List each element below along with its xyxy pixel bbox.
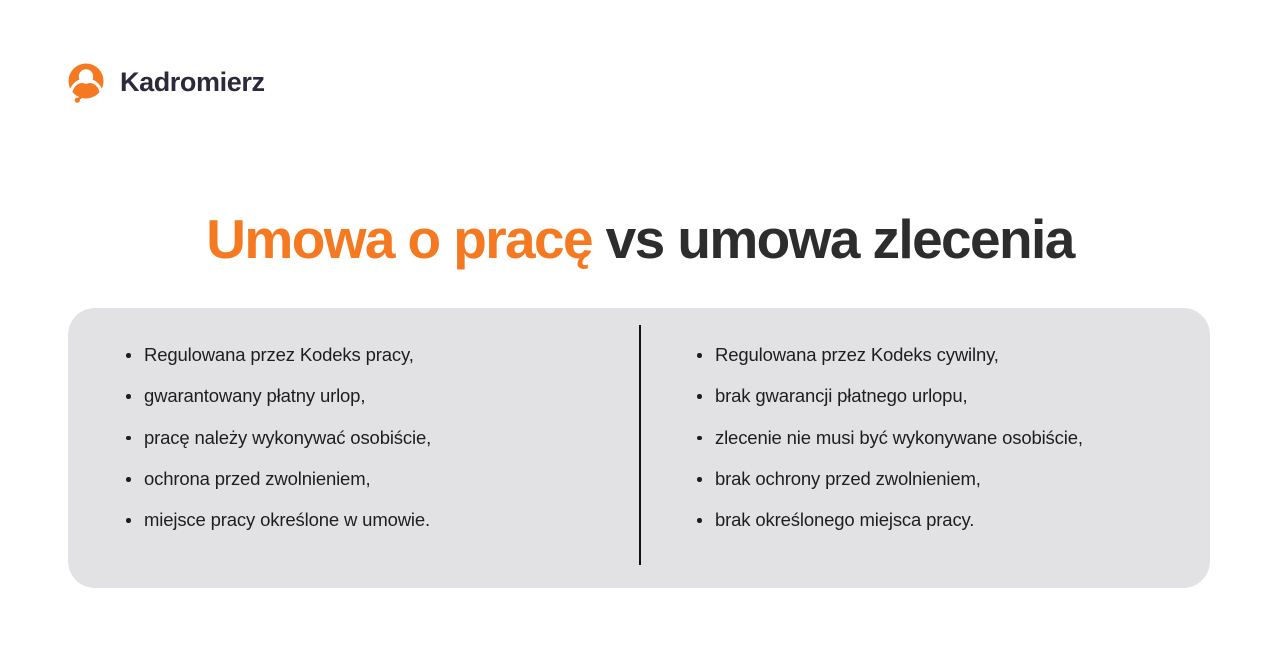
page-title-plain: vs umowa zlecenia [592,208,1074,270]
bullet-dot-icon [697,477,702,482]
list-item-label: Regulowana przez Kodeks pracy, [144,344,414,365]
bullet-list-mandate-contract: Regulowana przez Kodeks cywilny, brak gw… [697,345,1186,531]
bullet-dot-icon [697,394,702,399]
bullet-dot-icon [697,518,702,523]
bullet-dot-icon [126,394,131,399]
list-item: brak gwarancji płatnego urlopu, [697,386,1186,406]
list-item: brak określonego miejsca pracy. [697,510,1186,530]
list-item: brak ochrony przed zwolnieniem, [697,469,1186,489]
comparison-card: Regulowana przez Kodeks pracy, gwarantow… [68,308,1210,588]
list-item-label: brak gwarancji płatnego urlopu, [715,385,967,406]
bullet-dot-icon [697,353,702,358]
list-item: ochrona przed zwolnieniem, [126,469,615,489]
list-item-label: ochrona przed zwolnieniem, [144,468,370,489]
list-item: zlecenie nie musi być wykonywane osobiśc… [697,428,1186,448]
person-gauge-icon [64,60,108,104]
comparison-column-right: Regulowana przez Kodeks cywilny, brak gw… [639,308,1210,588]
brand-logo[interactable]: Kadromierz [64,60,265,104]
bullet-dot-icon [126,518,131,523]
list-item-label: pracę należy wykonywać osobiście, [144,427,431,448]
bullet-dot-icon [126,436,131,441]
column-divider [639,325,641,565]
list-item: gwarantowany płatny urlop, [126,386,615,406]
comparison-column-left: Regulowana przez Kodeks pracy, gwarantow… [68,308,639,588]
list-item-label: zlecenie nie musi być wykonywane osobiśc… [715,427,1083,448]
list-item: miejsce pracy określone w umowie. [126,510,615,530]
page-title: Umowa o pracę vs umowa zlecenia [0,208,1280,271]
list-item: Regulowana przez Kodeks pracy, [126,345,615,365]
list-item: Regulowana przez Kodeks cywilny, [697,345,1186,365]
bullet-dot-icon [126,477,131,482]
list-item-label: brak ochrony przed zwolnieniem, [715,468,981,489]
list-item: pracę należy wykonywać osobiście, [126,428,615,448]
bullet-dot-icon [126,353,131,358]
bullet-dot-icon [697,436,702,441]
list-item-label: brak określonego miejsca pracy. [715,509,974,530]
list-item-label: miejsce pracy określone w umowie. [144,509,430,530]
brand-name: Kadromierz [120,69,265,96]
bullet-list-employment-contract: Regulowana przez Kodeks pracy, gwarantow… [126,345,615,531]
page-title-accent: Umowa o pracę [206,208,592,270]
list-item-label: Regulowana przez Kodeks cywilny, [715,344,999,365]
list-item-label: gwarantowany płatny urlop, [144,385,365,406]
